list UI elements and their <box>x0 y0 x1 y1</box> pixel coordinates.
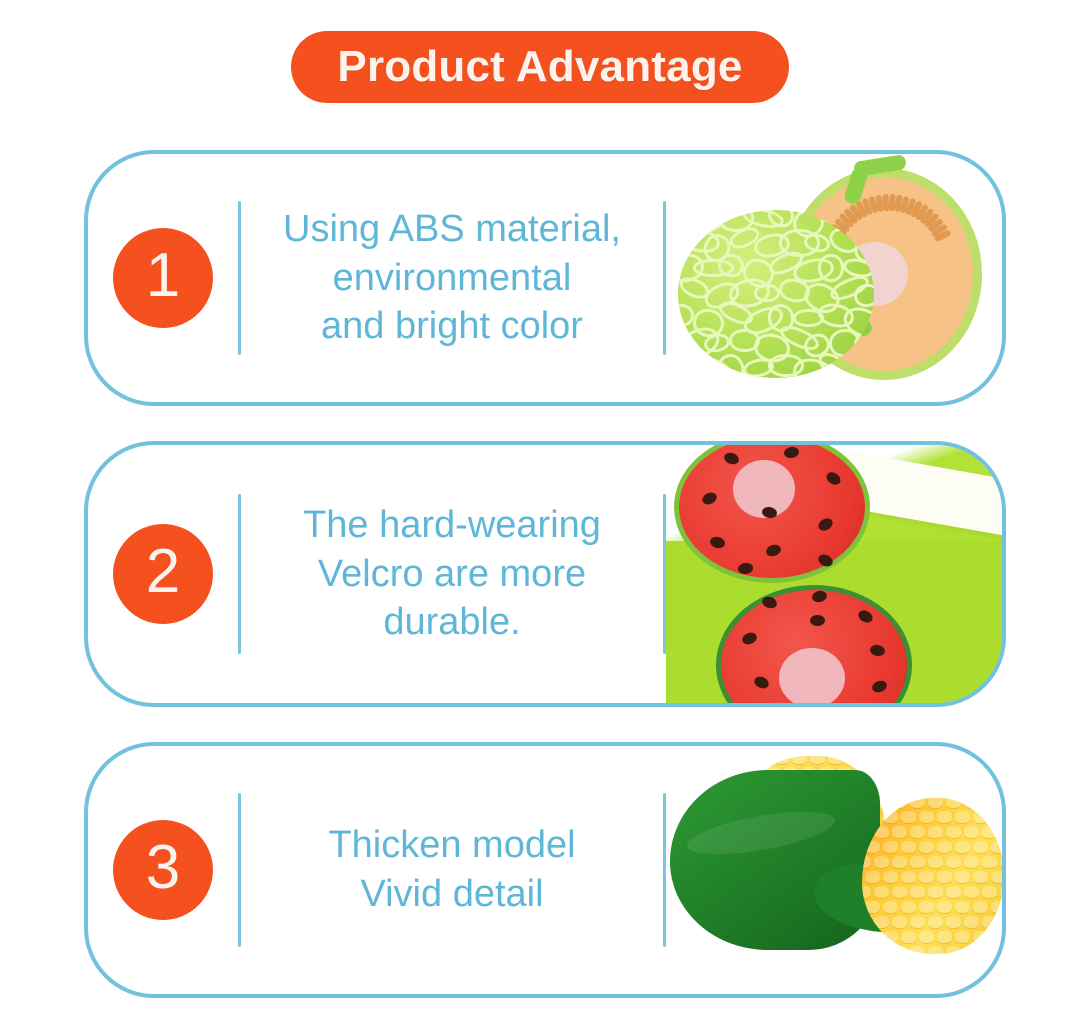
honeydew-melon-toy-photo <box>666 154 1002 402</box>
corn-cut-half-shape <box>862 798 1002 954</box>
card-3-inner: 3 Thicken model Vivid detail <box>88 746 1002 994</box>
corn-kernel-pattern-half <box>862 798 1002 954</box>
advantage-card-1: 1 Using ABS material, environmental and … <box>84 150 1006 406</box>
advantage-card-2: 2 The hard-wearing Velcro are more durab… <box>84 441 1006 707</box>
corn-toy-photo <box>666 746 1002 994</box>
advantage-text-1: Using ABS material, environmental and br… <box>283 205 621 351</box>
card-3-number-column: 3 <box>88 746 238 994</box>
card-3-text-column: Thicken model Vivid detail <box>241 746 663 994</box>
card-3-image-column <box>666 746 1002 994</box>
card-2-text-column: The hard-wearing Velcro are more durable… <box>241 445 663 703</box>
card-2-number-column: 2 <box>88 445 238 703</box>
melon-whole-shape <box>678 210 874 378</box>
advantage-text-3: Thicken model Vivid detail <box>328 821 575 918</box>
watermelon-velcro-toy-photo <box>666 445 1002 703</box>
melon-netting-pattern <box>678 210 874 378</box>
page-title-wrap: Product Advantage <box>0 31 1080 103</box>
card-1-inner: 1 Using ABS material, environmental and … <box>88 154 1002 402</box>
card-2-image-column <box>666 445 1002 703</box>
card-1-image-column <box>666 154 1002 402</box>
number-badge-2: 2 <box>113 524 213 624</box>
advantage-card-3: 3 Thicken model Vivid detail <box>84 742 1006 998</box>
melon-stem-shape <box>838 158 908 204</box>
product-advantage-page: Product Advantage 1 Using ABS material, … <box>0 0 1080 1020</box>
card-2-inner: 2 The hard-wearing Velcro are more durab… <box>88 445 1002 703</box>
number-badge-1: 1 <box>113 228 213 328</box>
page-title: Product Advantage <box>291 31 788 103</box>
card-1-number-column: 1 <box>88 154 238 402</box>
card-1-text-column: Using ABS material, environmental and br… <box>241 154 663 402</box>
number-badge-3: 3 <box>113 820 213 920</box>
advantage-text-2: The hard-wearing Velcro are more durable… <box>303 501 601 647</box>
